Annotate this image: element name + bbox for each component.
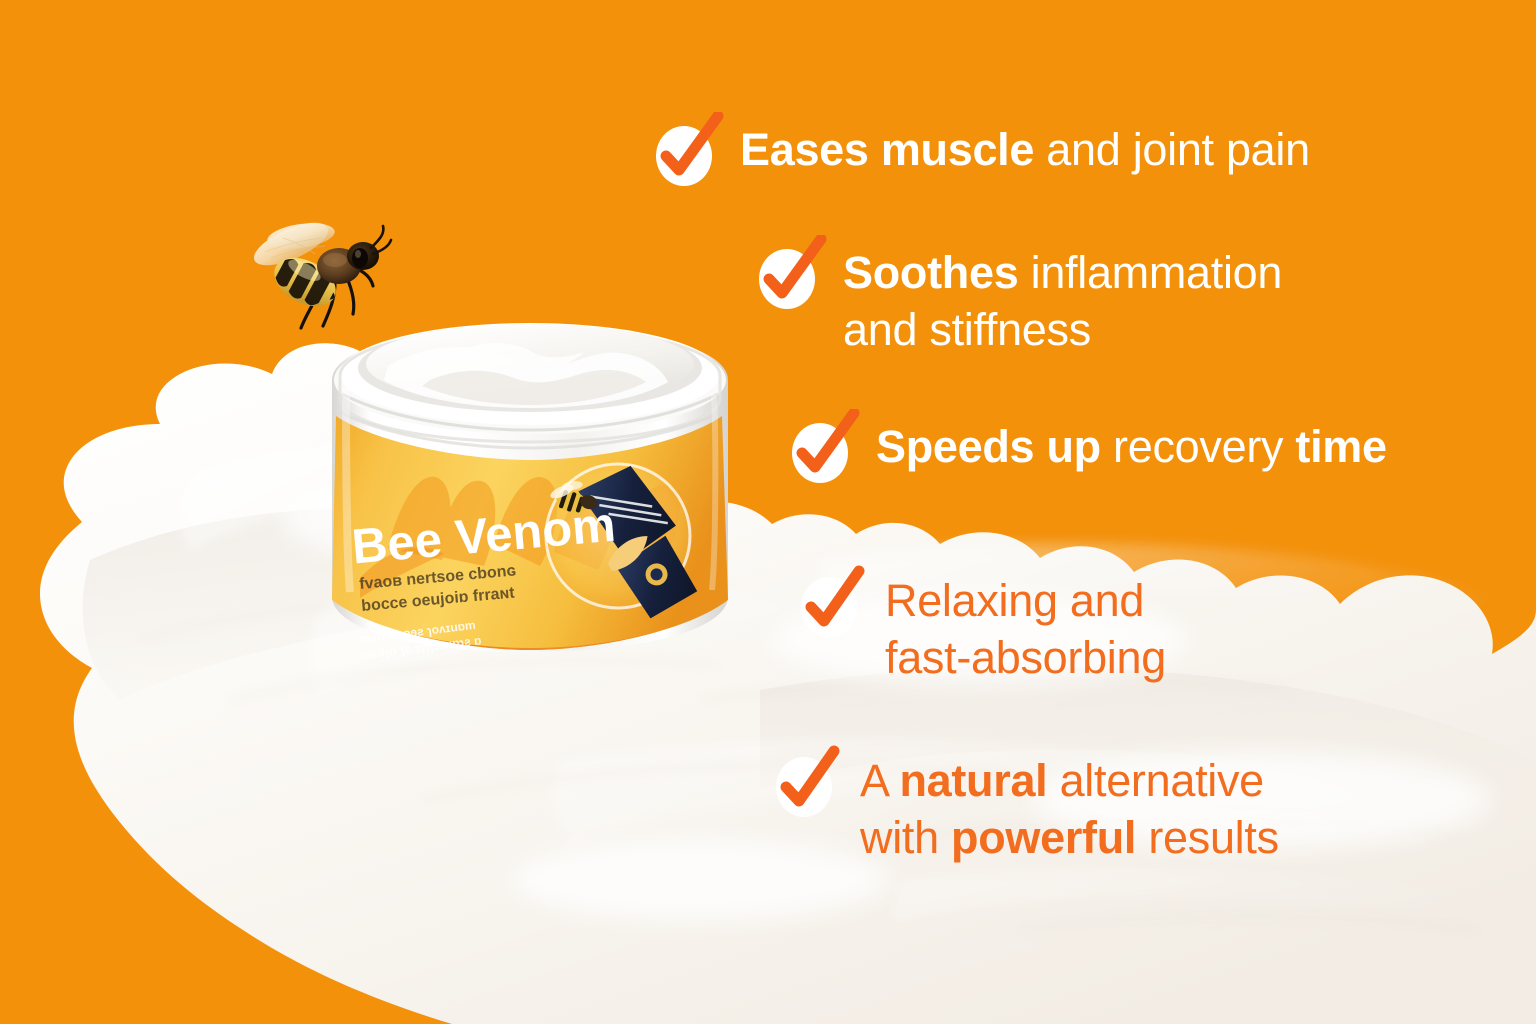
check-circle-icon xyxy=(797,577,859,639)
benefit-text-4: Relaxing and fast-absorbing xyxy=(885,573,1166,686)
benefit-item-1: Eases muscle and joint pain xyxy=(652,122,1310,188)
benefit-item-2: Soothes inflammation and stiffness xyxy=(755,245,1282,358)
benefit-text-2: Soothes inflammation and stiffness xyxy=(843,245,1282,358)
benefit-text-3: Speeds up recovery time xyxy=(876,419,1387,476)
benefit-item-3: Speeds up recovery time xyxy=(788,419,1387,485)
check-circle-icon xyxy=(755,249,817,311)
benefit-text-1: Eases muscle and joint pain xyxy=(740,122,1310,179)
advertisement-canvas: Bee Venom fvaoʙ nertsoe cbonɢ bocce oeuj… xyxy=(0,0,1536,1024)
check-circle-icon xyxy=(652,126,714,188)
check-circle-icon xyxy=(788,423,850,485)
benefit-item-4: Relaxing and fast-absorbing xyxy=(797,573,1166,686)
honeybee xyxy=(243,216,393,346)
check-circle-icon xyxy=(772,757,834,819)
benefit-text-5: A natural alternative with powerful resu… xyxy=(860,753,1279,866)
benefit-item-5: A natural alternative with powerful resu… xyxy=(772,753,1279,866)
